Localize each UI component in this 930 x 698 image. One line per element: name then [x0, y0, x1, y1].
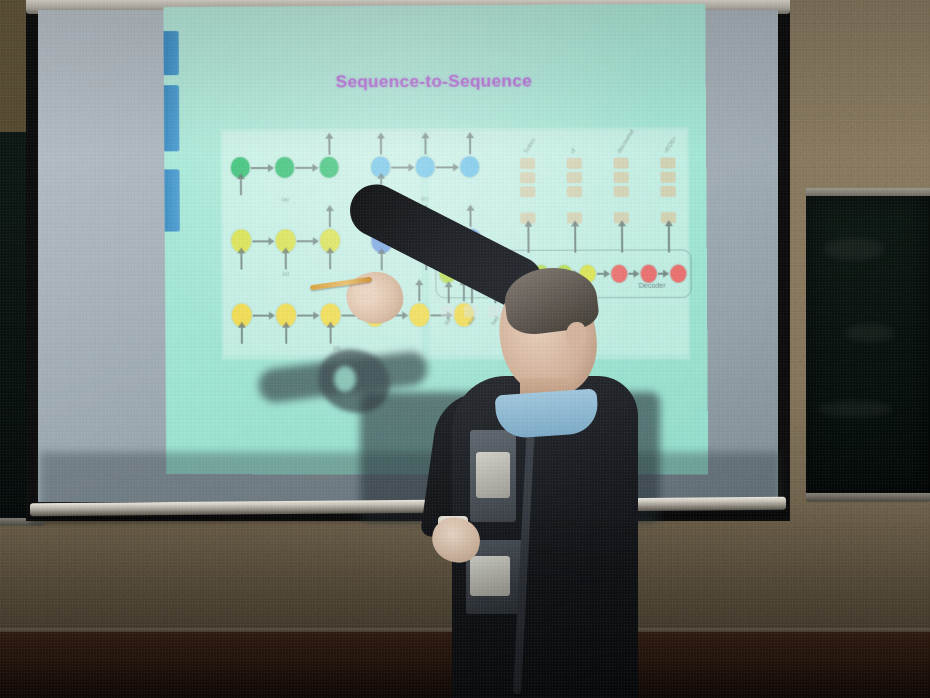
softmax-cell	[520, 186, 535, 197]
rnn-node	[319, 157, 338, 178]
slide-nav-tab-2[interactable]	[164, 85, 179, 151]
softmax-cell	[660, 157, 675, 168]
softmax-cell	[520, 172, 535, 183]
presenter-ear	[566, 322, 586, 348]
rnn-edge	[436, 166, 458, 168]
rnn-input-arrow	[381, 254, 383, 270]
softmax-cell	[660, 172, 675, 183]
encoder-input-arrow	[448, 287, 450, 303]
softmax-cell	[520, 158, 535, 169]
rnn-output-arrow	[380, 138, 382, 154]
seq-edge	[658, 273, 668, 275]
rnn-edge	[297, 315, 318, 317]
encoder-input-arrow	[471, 287, 473, 303]
sweater-patch-light	[476, 452, 510, 498]
rnn-output-arrow	[329, 211, 331, 227]
softmax-cell	[613, 172, 628, 183]
seq-edge	[628, 273, 638, 275]
decoder-label: Decoder	[639, 283, 666, 290]
rnn-node	[460, 156, 479, 177]
lecture-room-photo: Sequence-to-Sequence (a) (b)	[0, 0, 930, 698]
softmax-cell	[567, 158, 582, 169]
rnn-input-arrow	[285, 253, 287, 269]
decoder-node	[611, 265, 627, 283]
figure-caption-a: (a)	[265, 197, 305, 203]
decoder-node	[670, 265, 686, 283]
rnn-input-arrow	[240, 253, 242, 269]
decoder-node	[641, 265, 657, 283]
rnn-edge	[252, 240, 273, 242]
rnn-output-arrow	[469, 211, 471, 227]
sweater-patch-light	[470, 556, 510, 596]
rnn-edge	[297, 240, 318, 242]
rnn-input-arrow	[285, 328, 287, 344]
slide-nav-tab-1[interactable]	[164, 31, 179, 75]
hand-shadow-gap	[334, 366, 356, 392]
rnn-node	[275, 157, 294, 178]
softmax-cell	[614, 186, 629, 197]
softmax-cell	[660, 186, 675, 197]
figure-caption-c: (c)	[266, 271, 306, 277]
rnn-edge	[251, 167, 273, 169]
rnn-input-arrow	[241, 328, 243, 344]
rnn-input-arrow	[240, 179, 242, 195]
rnn-output-arrow	[469, 138, 471, 154]
rnn-output-arrow	[328, 139, 330, 155]
softmax-cell	[567, 172, 582, 183]
rnn-output-arrow	[418, 285, 420, 301]
embedding-cell	[441, 305, 455, 317]
seq-edge	[597, 273, 609, 275]
rnn-edge	[295, 167, 317, 169]
rnn-input-arrow	[330, 328, 332, 344]
rnn-input-arrow	[329, 253, 331, 269]
slide-nav-tab-3[interactable]	[164, 169, 179, 231]
rnn-node	[409, 303, 429, 326]
softmax-cell	[613, 158, 628, 169]
softmax-cell	[567, 186, 582, 197]
rnn-node	[415, 156, 434, 177]
slide-title: Sequence-to-Sequence	[164, 70, 706, 93]
rnn-edge	[253, 315, 274, 317]
rnn-edge	[391, 167, 413, 169]
rnn-output-arrow	[424, 138, 426, 154]
